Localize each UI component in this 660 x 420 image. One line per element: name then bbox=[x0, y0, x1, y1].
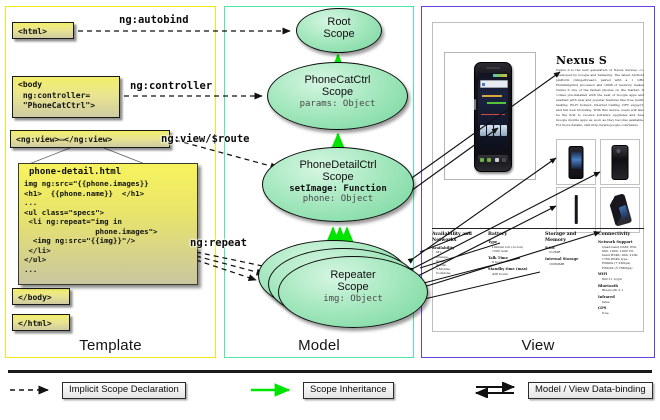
code-box-body-close[interactable]: </body> bbox=[12, 288, 70, 305]
spec-group-values: 802.11 b/g/n bbox=[598, 277, 646, 281]
label-ng-repeat: ng:repeat bbox=[190, 237, 247, 249]
spec-column-availability: Availability and Networks Availability M… bbox=[432, 232, 482, 275]
legend-item-data-binding: Model / View Data-binding bbox=[474, 381, 653, 399]
spec-group-values: Lithium Ion (Li-Ion) 1500 mAh bbox=[488, 245, 540, 253]
code-box-body-open[interactable]: <body ng:controller= "PhoneCatCtrl"> bbox=[12, 76, 120, 118]
scope-title: PhoneCatCtrl Scope bbox=[268, 63, 407, 99]
legend-label: Model / View Data-binding bbox=[528, 382, 653, 399]
view-specs-table: Availability and Networks Availability M… bbox=[432, 232, 644, 328]
label-ng-controller: ng:controller bbox=[130, 80, 212, 92]
code-box-html-close[interactable]: </html> bbox=[12, 314, 70, 331]
phone-statusbar bbox=[493, 74, 507, 77]
spec-heading: Connectivity bbox=[598, 232, 646, 238]
scope-property: params: Object bbox=[268, 99, 407, 110]
phone-widget-line-3 bbox=[481, 114, 505, 115]
legend-label: Implicit Scope Declaration bbox=[62, 382, 186, 399]
phone-screen bbox=[478, 73, 508, 151]
phone-widget-line-2 bbox=[487, 102, 506, 104]
spec-group-values: 16384MB bbox=[545, 262, 597, 266]
spec-group-values: Bluetooth 2.1 bbox=[598, 288, 646, 292]
scope-property: img: Object bbox=[279, 294, 427, 305]
template-note-title: phone-detail.html bbox=[19, 164, 197, 179]
spec-heading: Availability and Networks bbox=[432, 232, 482, 243]
specs-divider bbox=[432, 228, 644, 229]
column-label-model: Model bbox=[224, 337, 414, 354]
code-box-ng-view[interactable]: <ng:view>▭</ng:view> bbox=[10, 130, 170, 148]
label-ng-autobind: ng:autobind bbox=[119, 14, 189, 26]
phone-searchbar bbox=[480, 80, 508, 88]
view-product-description: Nexus S is the next generation of Nexus … bbox=[556, 68, 644, 130]
thumbnail-edge[interactable] bbox=[556, 187, 596, 233]
spec-group-values: true bbox=[598, 311, 646, 315]
scope-property: setImage: Function bbox=[263, 184, 413, 195]
spec-heading: Battery bbox=[488, 232, 540, 238]
phone-side-button bbox=[474, 99, 476, 110]
column-label-view: View bbox=[421, 337, 655, 354]
thumbnail-angle[interactable] bbox=[600, 187, 640, 233]
column-label-template: Template bbox=[5, 337, 216, 354]
scope-title: PhoneDetailCtrl Scope bbox=[263, 148, 413, 184]
spec-group-values: M1, Orange, Sugiri, Sprint, T-Mobile, Vo… bbox=[432, 250, 482, 275]
template-note-phone-detail[interactable]: phone-detail.html img ng:src="{{phone.im… bbox=[18, 163, 198, 285]
spec-group-values: Quad-band GSM: 850, 900, 1800, 1900 Tri-… bbox=[598, 245, 646, 270]
scope-property: phone: Object bbox=[263, 194, 413, 205]
phone-speaker bbox=[486, 67, 500, 69]
phone-app-row bbox=[480, 125, 507, 136]
label-ng-view-route: ng:view/$route bbox=[161, 133, 250, 145]
spec-column-storage: Storage and Memory RAM 512MB Internal St… bbox=[545, 232, 597, 266]
phone-hero-image bbox=[474, 62, 512, 172]
spec-column-battery: Battery Type Lithium Ion (Li-Ion) 1500 m… bbox=[488, 232, 540, 276]
scope-phonecatctrl[interactable]: PhoneCatCtrl Scope params: Object bbox=[267, 62, 408, 130]
thumb-back-icon bbox=[612, 145, 629, 180]
view-product-title: Nexus S bbox=[556, 54, 642, 67]
phone-widget-line-1 bbox=[482, 95, 502, 97]
phone-hardware-keys bbox=[478, 155, 508, 164]
thumb-front-icon bbox=[569, 146, 584, 179]
legend-dashed-arrow-icon bbox=[8, 382, 56, 398]
legend-green-arrow-icon bbox=[249, 382, 297, 398]
template-note-code: img ng:src="{{phone.images}} <h1> {{phon… bbox=[19, 179, 197, 274]
thumbnail-back[interactable] bbox=[600, 139, 640, 185]
spec-column-connectivity: Connectivity Network Support Quad-band G… bbox=[598, 232, 646, 315]
scope-root[interactable]: Root Scope bbox=[296, 8, 382, 53]
legend-label: Scope Inheritance bbox=[303, 382, 394, 399]
scope-title: Repeater Scope bbox=[279, 257, 427, 294]
spec-group-values: 512MB bbox=[545, 250, 597, 254]
scope-repeater[interactable]: Repeater Scope img: Object bbox=[278, 256, 428, 328]
thumbnail-front[interactable] bbox=[556, 139, 596, 185]
legend-item-scope-inheritance: Scope Inheritance bbox=[249, 381, 394, 399]
spec-group-values: 428 hours bbox=[488, 272, 540, 276]
legend-divider bbox=[8, 370, 652, 373]
thumb-angle-icon bbox=[608, 193, 633, 227]
scope-phonedetailctrl[interactable]: PhoneDetailCtrl Scope setImage: Function… bbox=[262, 147, 414, 222]
spec-group-values: 6 hours bbox=[488, 260, 540, 264]
spec-group-values: false bbox=[598, 300, 646, 304]
legend-item-implicit-scope: Implicit Scope Declaration bbox=[8, 381, 186, 399]
thumb-edge-icon bbox=[575, 195, 578, 224]
legend-double-arrow-icon bbox=[474, 382, 522, 398]
spec-heading: Storage and Memory bbox=[545, 232, 597, 243]
code-box-html-open[interactable]: <html> bbox=[12, 22, 74, 39]
scope-title: Root Scope bbox=[297, 9, 381, 41]
